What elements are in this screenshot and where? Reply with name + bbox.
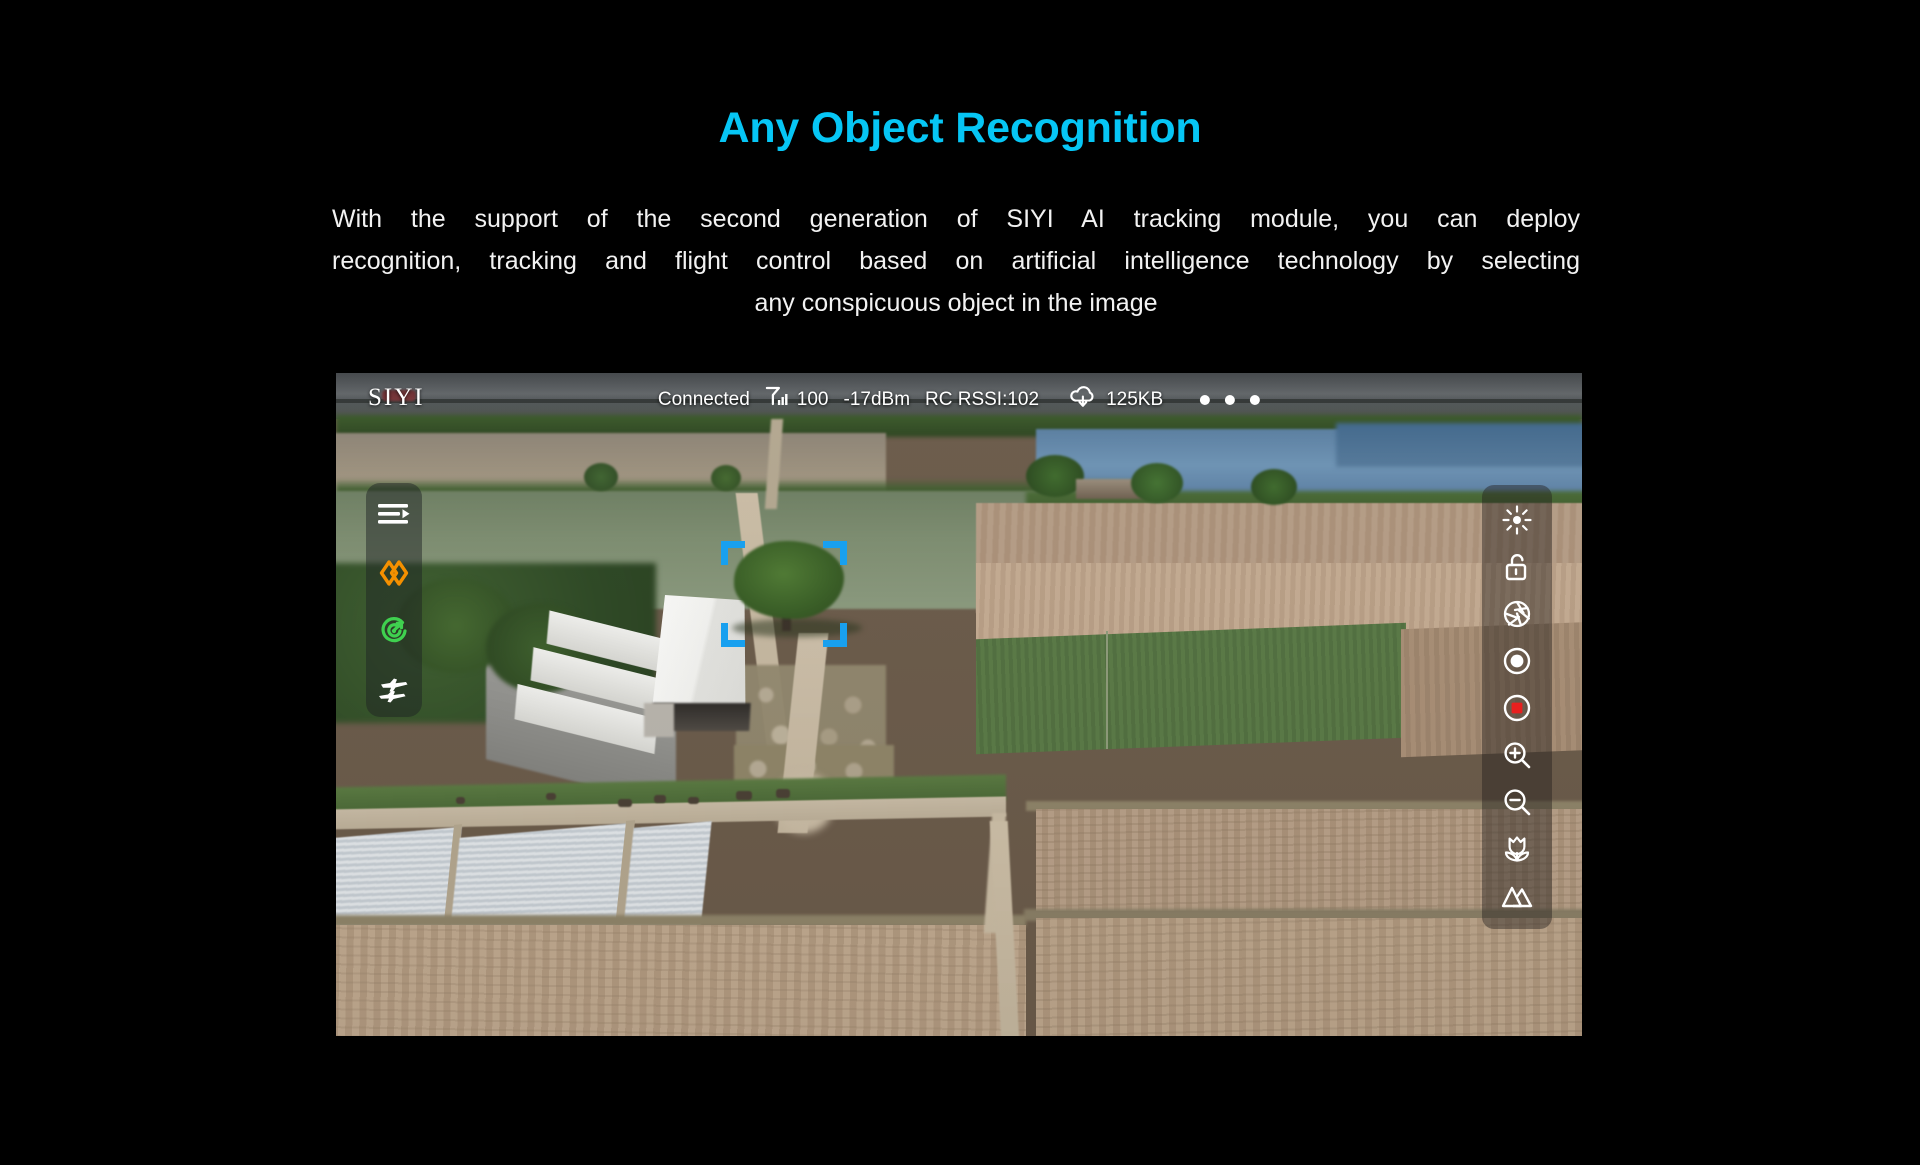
- page-root: Any Object Recognition With the support …: [0, 0, 1920, 1165]
- photo-capture-icon[interactable]: [1495, 644, 1539, 678]
- cloud-download-icon: [1068, 384, 1098, 416]
- siyi-logo: SIYI: [368, 384, 425, 412]
- zoom-in-icon[interactable]: [1495, 738, 1539, 772]
- description-line-3: any conspicuous object in the image: [332, 282, 1580, 324]
- record-stop-icon[interactable]: [1495, 691, 1539, 725]
- brightness-sun-icon[interactable]: [1495, 503, 1539, 537]
- rc-rssi: RC RSSI:102: [925, 389, 1039, 411]
- right-toolbar: [1482, 485, 1552, 929]
- zoom-out-icon[interactable]: [1495, 785, 1539, 819]
- description-line-1: With the support of the second generatio…: [332, 198, 1580, 240]
- download-group: 125KB: [1068, 384, 1163, 416]
- target-tracking-icon[interactable]: [374, 613, 414, 649]
- layers-diamond-icon[interactable]: [374, 555, 414, 591]
- page-title: Any Object Recognition: [0, 104, 1920, 153]
- signal-group: 100: [765, 386, 829, 414]
- unlock-icon[interactable]: [1495, 550, 1539, 584]
- drone-video-feed: SIYI Connected 100 -17dBm RC RSSI:102: [336, 373, 1582, 1036]
- signal-strength: -17dBm: [843, 389, 910, 411]
- aperture-icon[interactable]: [1495, 597, 1539, 631]
- page-description: With the support of the second generatio…: [332, 198, 1580, 324]
- left-toolbar: [366, 483, 422, 717]
- signal-value: 100: [797, 389, 829, 411]
- menu-list-icon[interactable]: [374, 497, 414, 533]
- aerial-scene-imagery: [336, 373, 1582, 1036]
- menu-dots-icon[interactable]: [1200, 395, 1260, 405]
- description-line-2: recognition, tracking and flight control…: [332, 240, 1580, 282]
- connection-status: Connected: [658, 389, 750, 411]
- landscape-mountain-icon[interactable]: [1495, 879, 1539, 913]
- data-size: 125KB: [1106, 389, 1163, 411]
- macro-flower-icon[interactable]: [1495, 832, 1539, 866]
- signal-bars-icon: [765, 386, 789, 414]
- aircraft-icon[interactable]: [374, 671, 414, 707]
- status-bar: Connected 100 -17dBm RC RSSI:102: [658, 384, 1260, 416]
